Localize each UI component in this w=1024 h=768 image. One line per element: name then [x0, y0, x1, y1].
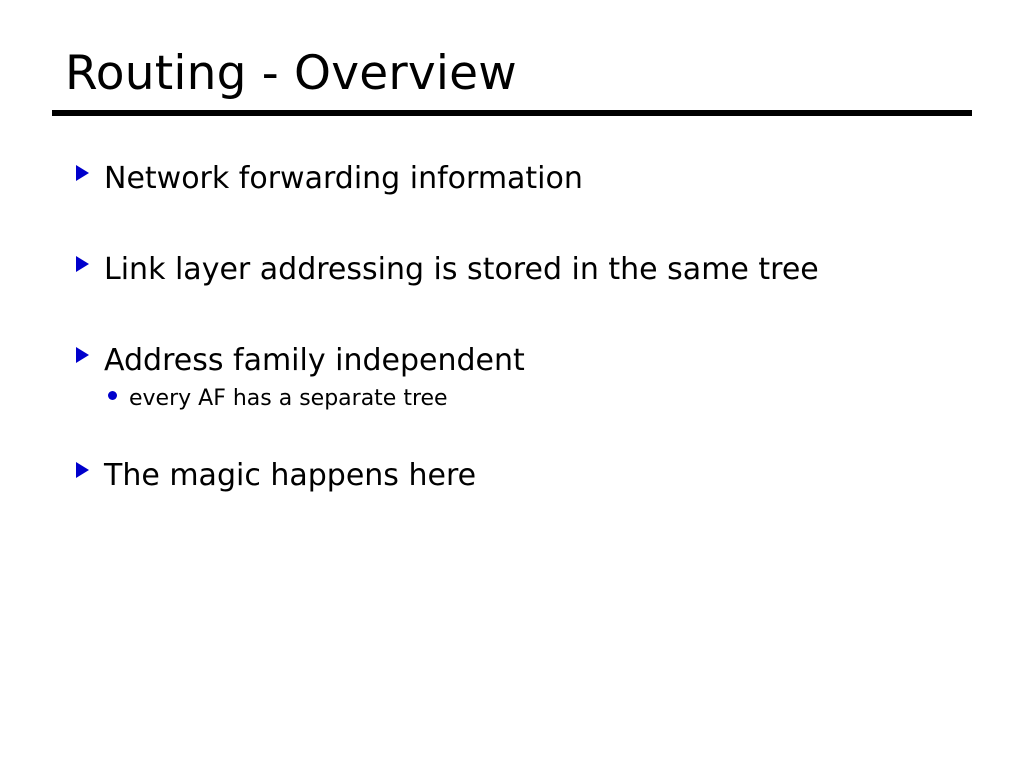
list-item: Network forwarding information: [76, 160, 583, 198]
list-item-label: The magic happens here: [104, 457, 476, 495]
sub-list-item: every AF has a separate tree: [108, 385, 448, 413]
list-item: The magic happens here: [76, 457, 476, 495]
triangle-right-icon: [76, 165, 89, 181]
triangle-right-icon: [76, 256, 89, 272]
list-item-label: Link layer addressing is stored in the s…: [104, 251, 819, 289]
presentation-slide: Routing - Overview Network forwarding in…: [0, 0, 1024, 768]
slide-title-block: Routing - Overview: [52, 46, 972, 102]
page-title: Routing - Overview: [52, 46, 972, 102]
triangle-right-icon: [76, 462, 89, 478]
list-item: Address family independent: [76, 342, 525, 380]
sub-list-item-label: every AF has a separate tree: [129, 385, 448, 413]
list-item: Link layer addressing is stored in the s…: [76, 251, 819, 289]
list-item-label: Address family independent: [104, 342, 525, 380]
list-item-label: Network forwarding information: [104, 160, 583, 198]
triangle-right-icon: [76, 347, 89, 363]
title-underline-rule: [52, 110, 972, 116]
dot-icon: [108, 391, 117, 400]
